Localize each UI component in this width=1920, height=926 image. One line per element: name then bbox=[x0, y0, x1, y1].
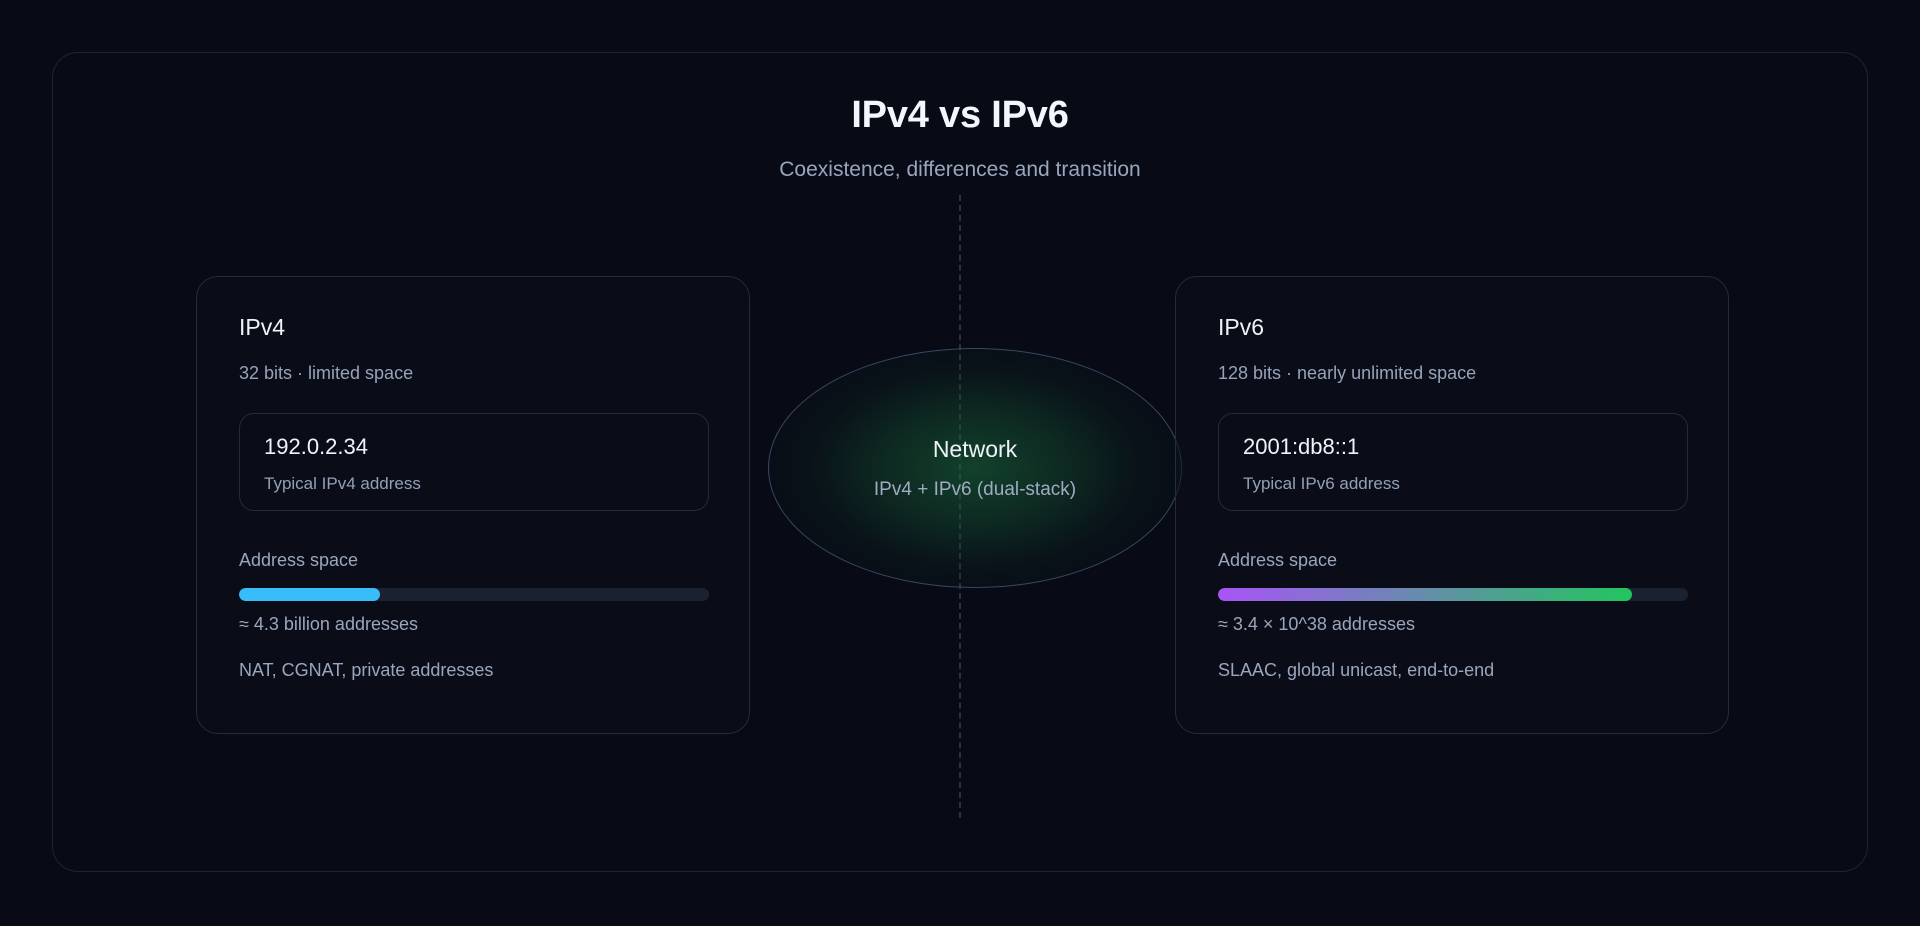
meter-caption-ipv6: ≈ 3.4 × 10^38 addresses bbox=[1218, 601, 1686, 633]
meter-label-ipv6: Address space bbox=[1218, 511, 1686, 569]
meter-label-ipv4: Address space bbox=[239, 511, 707, 569]
card-body: IPv6 128 bits · nearly unlimited space 2… bbox=[1176, 277, 1728, 679]
protocol-card-ipv6[interactable]: IPv6 128 bits · nearly unlimited space 2… bbox=[1175, 276, 1729, 734]
address-value-ipv4: 192.0.2.34 bbox=[264, 436, 684, 458]
card-body: IPv4 32 bits · limited space 192.0.2.34 … bbox=[197, 277, 749, 679]
address-sample-ipv4: 192.0.2.34 Typical IPv4 address bbox=[239, 413, 709, 511]
protocol-card-ipv4[interactable]: IPv4 32 bits · limited space 192.0.2.34 … bbox=[196, 276, 750, 734]
address-caption-ipv6: Typical IPv6 address bbox=[1243, 458, 1663, 492]
card-title-ipv4: IPv4 bbox=[239, 316, 707, 339]
card-note-ipv4: NAT, CGNAT, private addresses bbox=[239, 633, 707, 679]
address-space-meter-ipv4 bbox=[239, 588, 709, 601]
card-meta-ipv4: 32 bits · limited space bbox=[239, 339, 707, 382]
card-meta-ipv6: 128 bits · nearly unlimited space bbox=[1218, 339, 1686, 382]
address-caption-ipv4: Typical IPv4 address bbox=[264, 458, 684, 492]
meter-fill-ipv6 bbox=[1218, 588, 1632, 601]
address-sample-ipv6: 2001:db8::1 Typical IPv6 address bbox=[1218, 413, 1688, 511]
network-label: Network bbox=[933, 438, 1017, 461]
card-note-ipv6: SLAAC, global unicast, end-to-end bbox=[1218, 633, 1686, 679]
card-title-ipv6: IPv6 bbox=[1218, 316, 1686, 339]
address-value-ipv6: 2001:db8::1 bbox=[1243, 436, 1663, 458]
diagram-canvas: IPv4 vs IPv6 Coexistence, differences an… bbox=[0, 0, 1920, 926]
network-ellipse: Network IPv4 + IPv6 (dual-stack) bbox=[768, 348, 1182, 588]
address-space-meter-ipv6 bbox=[1218, 588, 1688, 601]
meter-fill-ipv4 bbox=[239, 588, 380, 601]
network-sublabel: IPv4 + IPv6 (dual-stack) bbox=[874, 480, 1076, 499]
meter-caption-ipv4: ≈ 4.3 billion addresses bbox=[239, 601, 707, 633]
